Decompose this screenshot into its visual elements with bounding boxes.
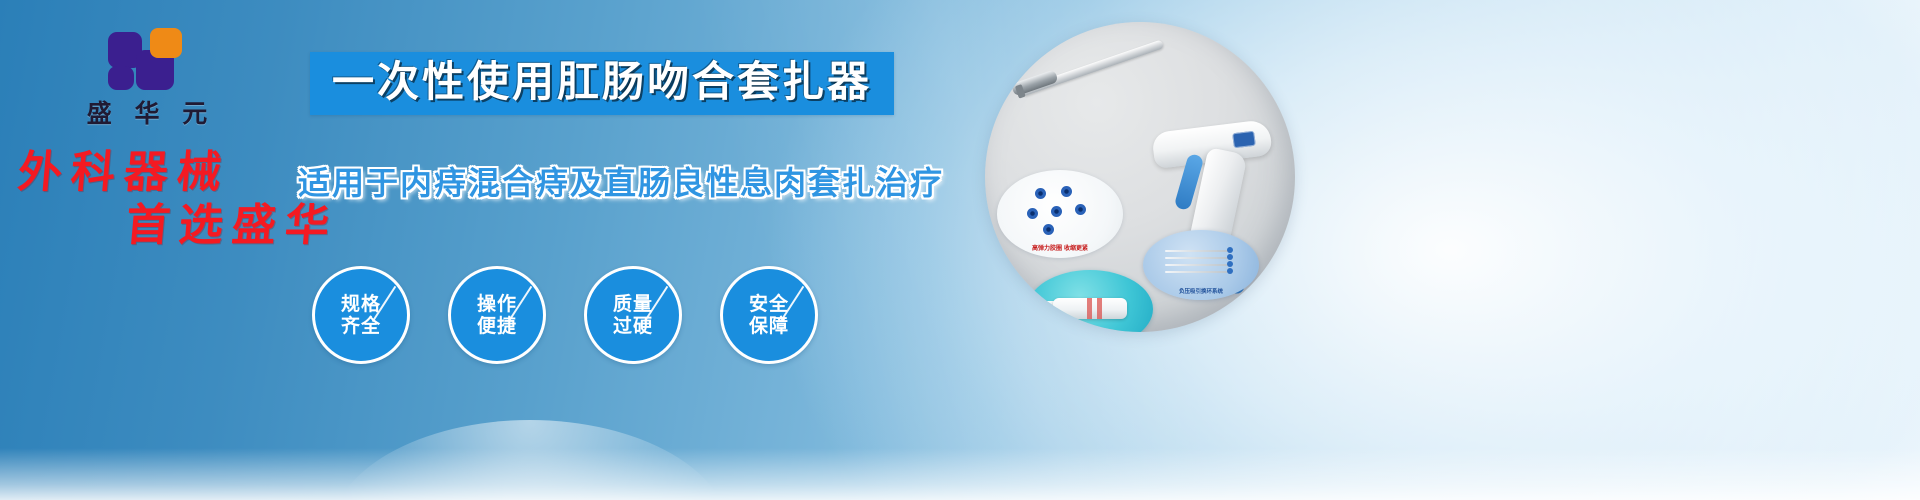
bottom-glow-decoration bbox=[330, 420, 730, 500]
logo-mark-icon bbox=[108, 28, 194, 90]
feature-badge[interactable]: 质量 过硬 bbox=[584, 266, 682, 364]
badge-label-line1: 质量 bbox=[613, 293, 653, 315]
inset-needles-caption: 负压吸引换环系统 bbox=[1143, 287, 1259, 295]
badge-label-line2: 齐全 bbox=[341, 315, 381, 337]
main-title-bar: 一次性使用肛肠吻合套扎器 bbox=[310, 52, 894, 115]
cartridge-band bbox=[1087, 298, 1092, 319]
main-title-text: 一次性使用肛肠吻合套扎器 bbox=[332, 61, 872, 103]
inset-photo-needles: 负压吸引换环系统 bbox=[1143, 230, 1259, 300]
subtitle-text: 适用于内痔混合痔及直肠良性息肉套扎治疗 bbox=[298, 158, 944, 204]
badge-label-line2: 保障 bbox=[749, 315, 789, 337]
inset-bands-caption: 高弹力胶圈 收缩更紧 bbox=[997, 243, 1123, 252]
feature-badge-list: 规格 齐全 操作 便捷 质量 过硬 安全 保障 bbox=[312, 266, 818, 364]
product-photo-circle: 高弹力胶圈 收缩更紧 负压吸引换环系统 bbox=[985, 22, 1295, 332]
badge-label-line1: 操作 bbox=[477, 293, 517, 315]
bottom-fade-decoration bbox=[0, 448, 1920, 500]
badge-label-line1: 规格 bbox=[341, 293, 381, 315]
feature-badge[interactable]: 规格 齐全 bbox=[312, 266, 410, 364]
promo-banner: 盛 华 元 外科器械 首选盛华 一次性使用肛肠吻合套扎器 适用于内痔混合痔及直肠… bbox=[0, 0, 1920, 500]
badge-label-line1: 安全 bbox=[749, 293, 789, 315]
logo-company-name: 盛 华 元 bbox=[63, 94, 238, 130]
brand-logo[interactable]: 盛 华 元 bbox=[63, 28, 238, 128]
cartridge-band bbox=[1097, 298, 1102, 319]
device-shaft bbox=[1020, 39, 1165, 96]
feature-badge[interactable]: 安全 保障 bbox=[720, 266, 818, 364]
badge-label-line2: 便捷 bbox=[477, 315, 517, 337]
inset-photo-rubber-bands: 高弹力胶圈 收缩更紧 bbox=[997, 170, 1123, 258]
badge-label-line2: 过硬 bbox=[613, 315, 653, 337]
calligraphy-line-2: 首选盛华 bbox=[124, 203, 350, 250]
feature-badge[interactable]: 操作 便捷 bbox=[448, 266, 546, 364]
device-button-panel bbox=[1232, 131, 1256, 149]
